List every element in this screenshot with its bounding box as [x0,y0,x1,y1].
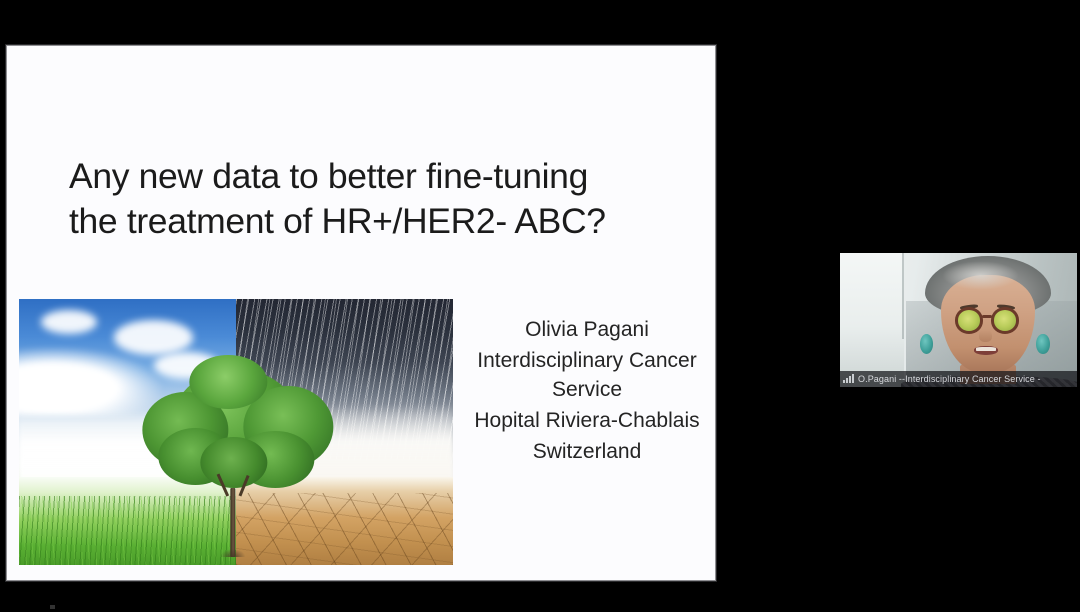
tree-canopy [138,355,333,497]
speaker-video-tile[interactable]: O.Pagani --Interdisciplinary Cancer Serv… [840,253,1077,387]
tree-icon [138,355,333,557]
video-name-label: O.Pagani --Interdisciplinary Cancer Serv… [840,371,1077,387]
doorway [840,253,904,387]
nose [979,330,991,343]
video-label-text: O.Pagani --Interdisciplinary Cancer Serv… [858,374,1041,384]
author-block: Olivia Pagani Interdisciplinary Cancer S… [462,316,712,469]
wall-edge [902,253,904,339]
earring-left [920,334,933,354]
glasses-lens-left [955,307,983,333]
speaker-figure [916,256,1063,387]
face [941,275,1035,372]
hair-highlight [942,261,1018,290]
tree-trunk-base [220,549,245,557]
author-country: Switzerland [462,438,712,467]
signal-bars-icon [843,375,854,384]
teeth [976,347,997,351]
slide-title: Any new data to better fine-tuning the t… [69,154,699,245]
corner-artifact [50,605,55,609]
author-name: Olivia Pagani [462,316,712,345]
presentation-stage: Any new data to better fine-tuning the t… [0,0,1080,612]
presentation-slide[interactable]: Any new data to better fine-tuning the t… [6,45,716,581]
mouth [974,346,998,355]
earring-right [1036,334,1049,354]
author-institution: Hopital Riviera-Chablais [462,407,712,436]
cloud-icon [114,320,192,355]
cloud-icon [41,310,97,334]
tree-trunk [230,488,235,557]
climate-split-tree-photo [19,299,453,565]
glasses-bridge [982,315,992,318]
author-affiliation: Interdisciplinary Cancer Service [462,347,712,405]
glasses-lens-right [991,307,1019,333]
